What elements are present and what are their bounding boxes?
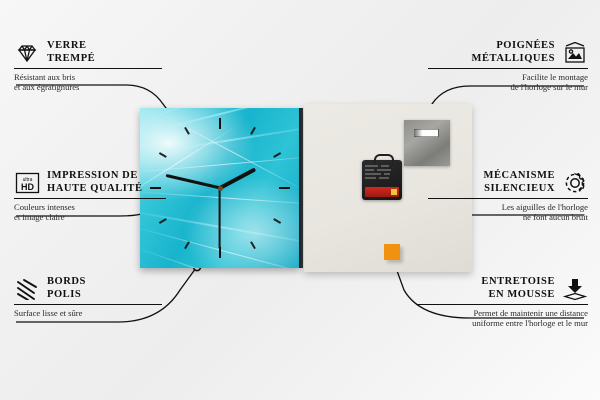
feature-impression-hd: ultra HD IMPRESSION DE HAUTE QUALITÉ Cou… bbox=[14, 170, 174, 223]
diamond-icon bbox=[14, 41, 40, 65]
divider bbox=[428, 68, 588, 69]
feature-subtitle: Surface lisse et sûre bbox=[14, 308, 164, 318]
feature-verre-trempe: VERRE TREMPÉ Résistant aux bris et aux é… bbox=[14, 40, 164, 93]
feature-title: ENTRETOISE EN MOUSSE bbox=[481, 276, 555, 301]
battery bbox=[365, 187, 399, 197]
polished-edges-icon bbox=[14, 277, 40, 301]
quartz-mechanism bbox=[362, 160, 402, 200]
feature-subtitle: Facilite le montage de l'horloge sur le … bbox=[428, 72, 588, 93]
clock-center-cap bbox=[218, 186, 223, 191]
divider bbox=[14, 304, 162, 305]
feature-mecanisme-silencieux: MÉCANISME SILENCIEUX Les aiguilles de l'… bbox=[428, 170, 588, 223]
clock-second-hand bbox=[219, 188, 221, 248]
wall-mount-picture-icon bbox=[562, 41, 588, 65]
feature-title: VERRE TREMPÉ bbox=[47, 40, 95, 65]
feature-title: MÉCANISME SILENCIEUX bbox=[484, 170, 555, 195]
battery-terminal bbox=[391, 189, 397, 195]
feature-subtitle: Permet de maintenir une distance uniform… bbox=[416, 308, 588, 329]
svg-text:HD: HD bbox=[21, 182, 34, 192]
foam-spacer bbox=[384, 244, 400, 260]
gear-icon bbox=[562, 171, 588, 195]
feature-subtitle: Résistant aux bris et aux égratignures bbox=[14, 72, 164, 93]
metal-hanger-plate bbox=[404, 120, 450, 166]
feature-bords-polis: BORDS POLIS Surface lisse et sûre bbox=[14, 276, 164, 318]
divider bbox=[14, 68, 162, 69]
feature-subtitle: Couleurs intenses et image claire bbox=[14, 202, 174, 223]
feature-title: BORDS POLIS bbox=[47, 276, 86, 301]
divider bbox=[428, 198, 588, 199]
mechanism-label bbox=[365, 164, 399, 182]
feature-subtitle: Les aiguilles de l'horloge ne font aucun… bbox=[428, 202, 588, 223]
feature-poignees-metalliques: POIGNÉES MÉTALLIQUES Facilite le montage… bbox=[428, 40, 588, 93]
divider bbox=[14, 198, 166, 199]
hanger-slot bbox=[413, 129, 439, 137]
foam-spacer-arrow-icon bbox=[562, 277, 588, 301]
ultra-hd-badge-icon: ultra HD bbox=[14, 171, 40, 195]
feature-title: IMPRESSION DE HAUTE QUALITÉ bbox=[47, 170, 143, 195]
feature-title: POIGNÉES MÉTALLIQUES bbox=[472, 40, 555, 65]
divider bbox=[416, 304, 588, 305]
glass-edge bbox=[299, 108, 303, 268]
infographic-canvas: VERRE TREMPÉ Résistant aux bris et aux é… bbox=[0, 0, 600, 400]
feature-entretoise-mousse: ENTRETOISE EN MOUSSE Permet de maintenir… bbox=[416, 276, 588, 329]
